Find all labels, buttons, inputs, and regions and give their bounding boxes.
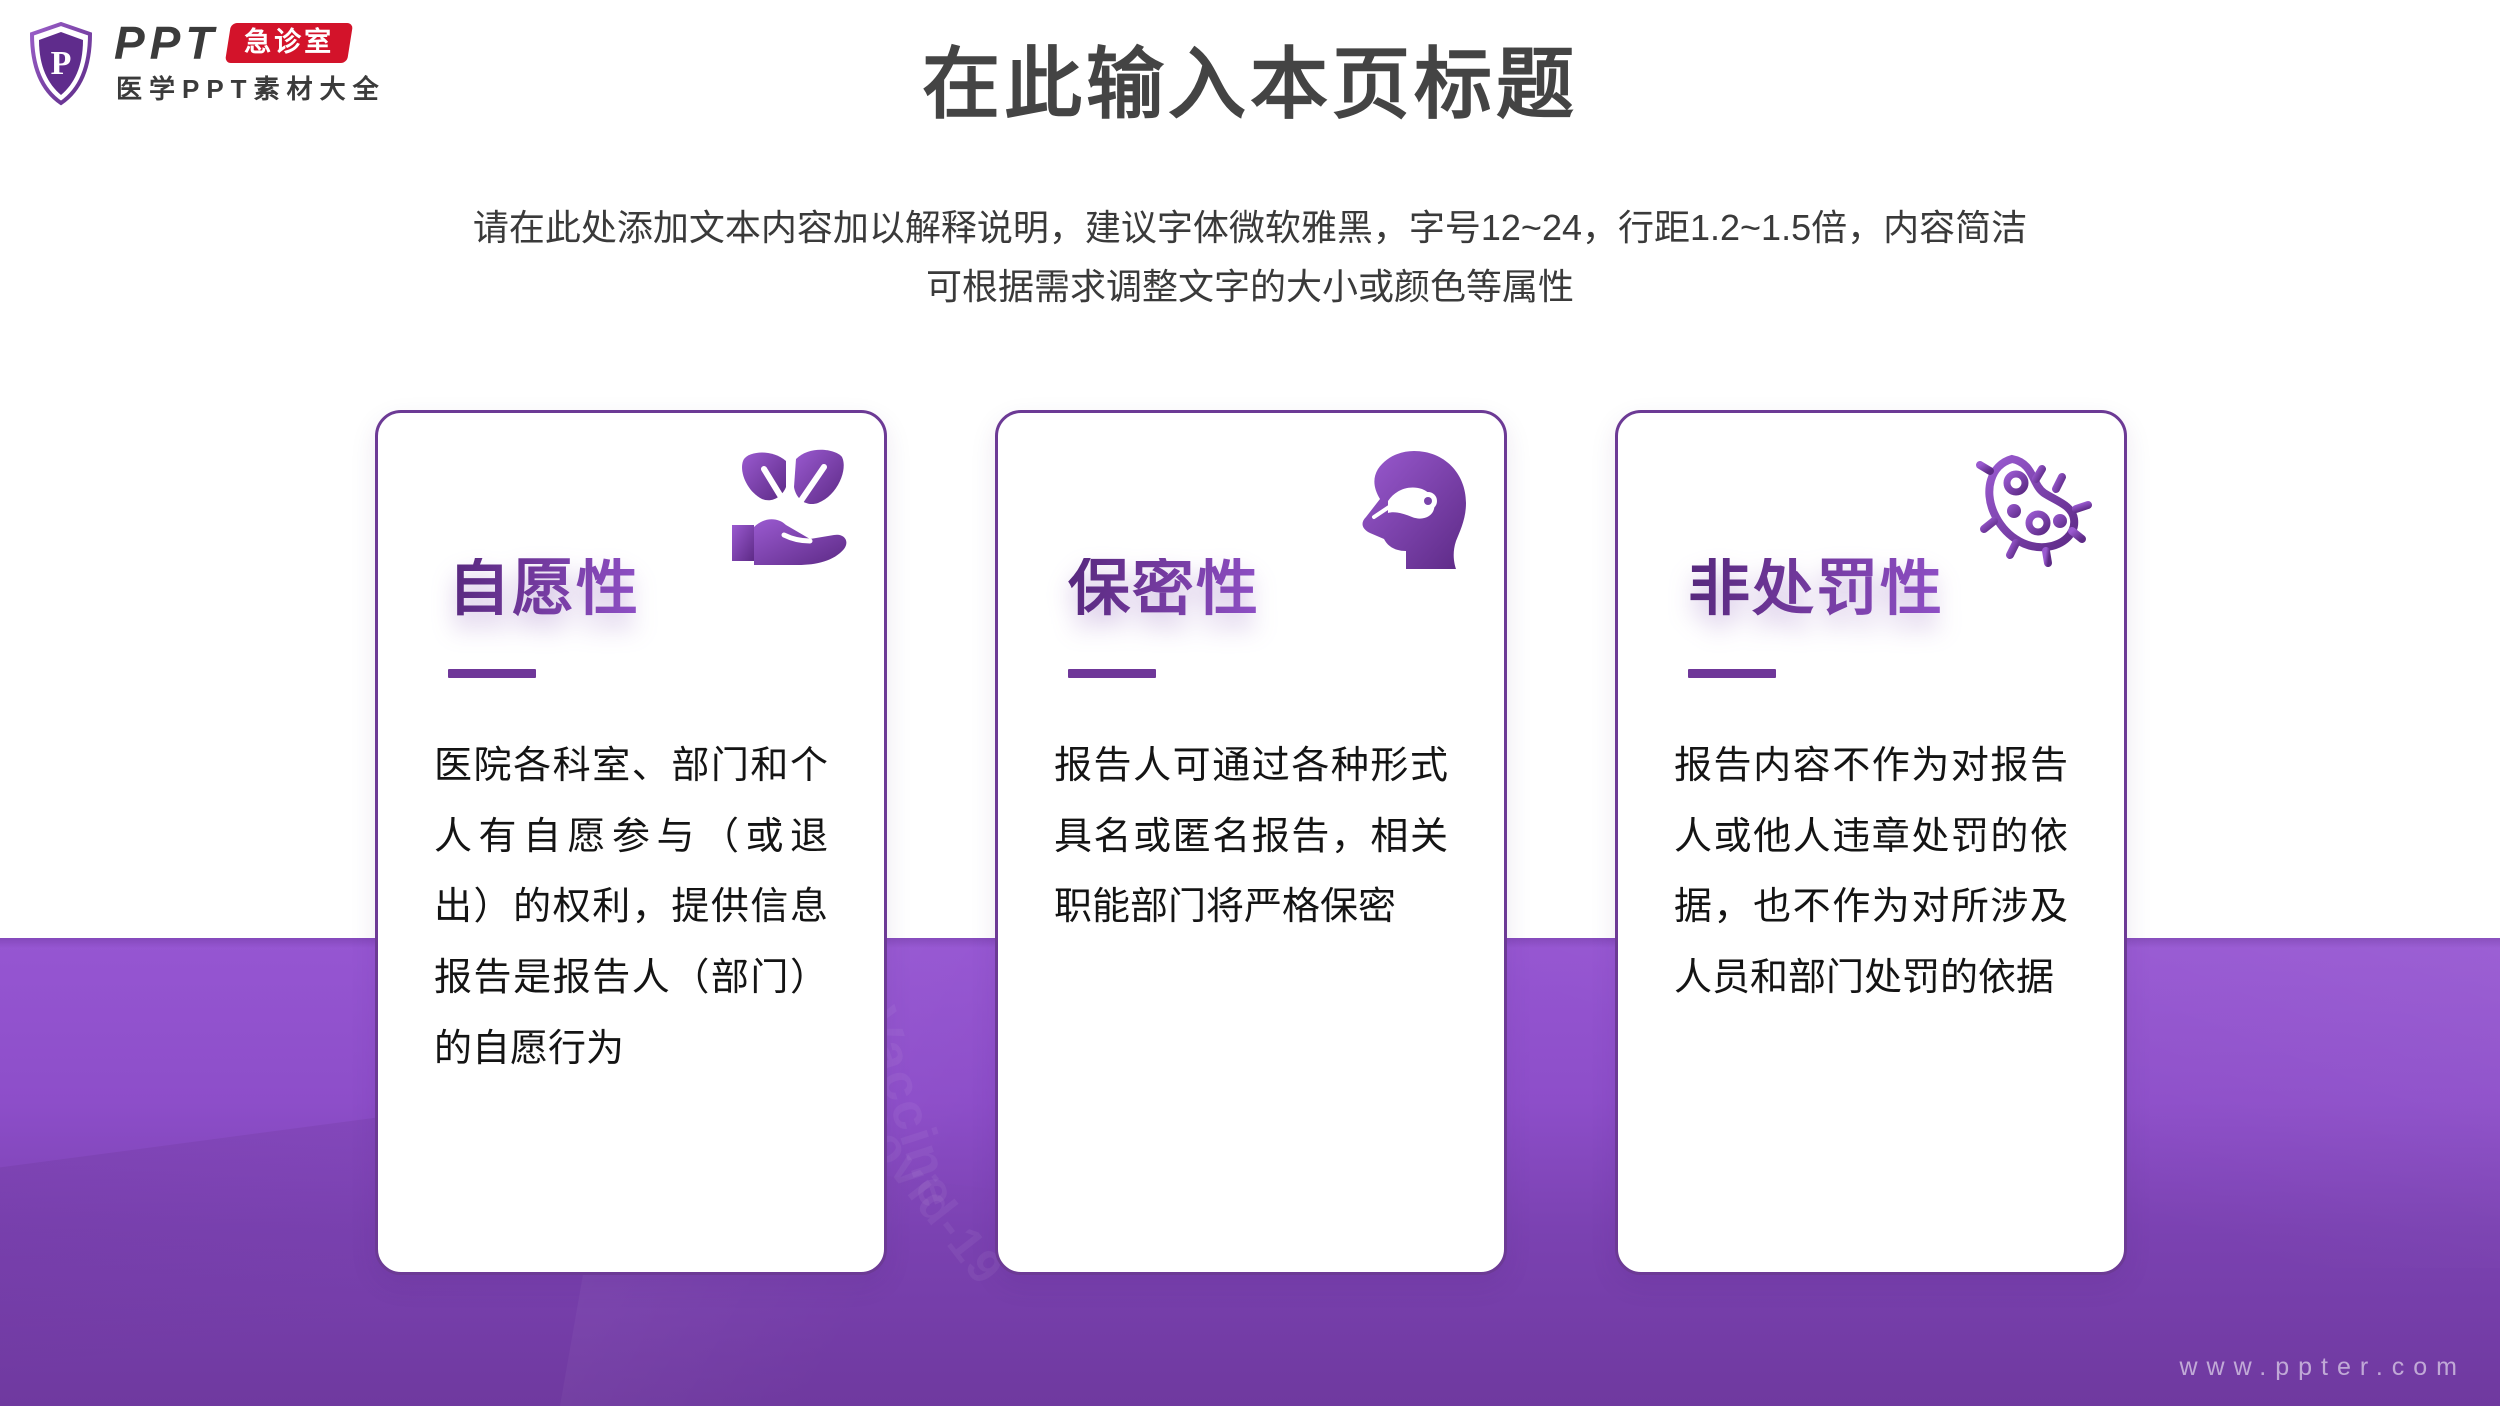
- card-rule: [448, 669, 536, 678]
- plant-in-hand-icon: [724, 443, 856, 575]
- site-watermark: www.ppter.com: [2179, 1355, 2466, 1380]
- page-subtitle-line-2: 可根据需求调整文字的大小或颜色等属性: [0, 257, 2500, 316]
- bacteria-icon: [1964, 443, 2096, 575]
- page-subtitle: 请在此处添加文本内容加以解释说明，建议字体微软雅黑，字号12~24，行距1.2~…: [0, 198, 2500, 317]
- card-voluntary[interactable]: 自愿性 医院各科室、部门和个人有自愿参与（或退出）的权利，提供信息报告是报告人（…: [375, 410, 887, 1275]
- card-body-voluntary: 医院各科室、部门和个人有自愿参与（或退出）的权利，提供信息报告是报告人（部门）的…: [434, 731, 828, 1084]
- card-rule: [1068, 669, 1156, 678]
- page-subtitle-line-1: 请在此处添加文本内容加以解释说明，建议字体微软雅黑，字号12~24，行距1.2~…: [0, 198, 2500, 257]
- card-body-non-punitive: 报告内容不作为对报告人或他人违章处罚的依据，也不作为对所涉及人员和部门处罚的依据: [1674, 731, 2068, 1014]
- card-rule: [1688, 669, 1776, 678]
- card-heading-non-punitive: 非处罚性: [1688, 558, 1944, 620]
- card-non-punitive[interactable]: 非处罚性 报告内容不作为对报告人或他人违章处罚的依据，也不作为对所涉及人员和部门…: [1615, 410, 2127, 1275]
- card-row: 自愿性 医院各科室、部门和个人有自愿参与（或退出）的权利，提供信息报告是报告人（…: [0, 410, 2500, 1278]
- card-heading-confidentiality: 保密性: [1068, 558, 1260, 620]
- card-confidentiality[interactable]: 保密性 报告人可通过各种形式具名或匿名报告，相关职能部门将严格保密: [995, 410, 1507, 1275]
- card-body-confidentiality: 报告人可通过各种形式具名或匿名报告，相关职能部门将严格保密: [1054, 731, 1448, 943]
- slide-canvas: Vaccine Covid-19 P PPT 急诊室 医学PPT素材大全 在此输…: [0, 0, 2500, 1406]
- card-heading-voluntary: 自愿性: [448, 558, 640, 620]
- page-title: 在此输入本页标题: [0, 42, 2500, 128]
- head-brain-profile-icon: [1344, 443, 1476, 575]
